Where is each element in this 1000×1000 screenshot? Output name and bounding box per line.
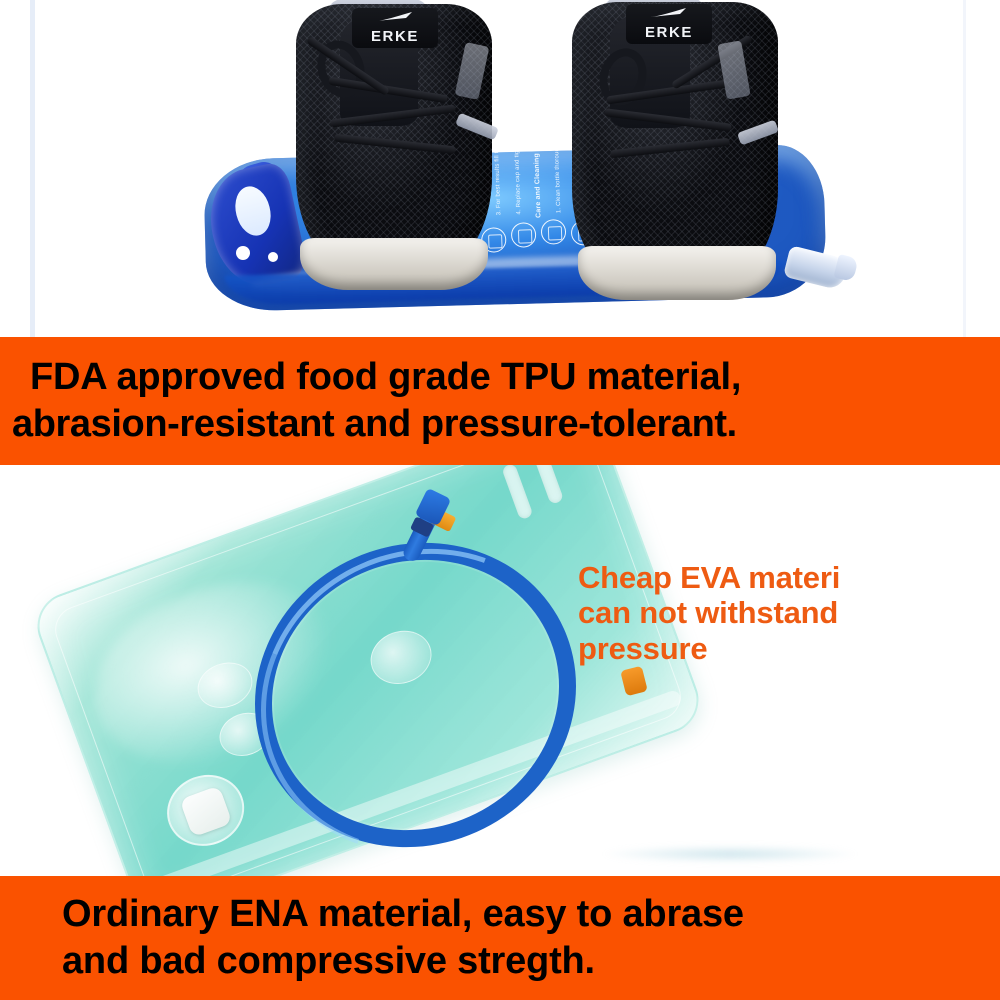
tpu-handle-hole [236, 246, 250, 260]
eva-drop-shadow [600, 845, 860, 863]
shoe-brand-label: ERKE [645, 24, 693, 44]
eva-claim-banner: Ordinary ENA material, easy to abrase an… [0, 876, 1000, 1000]
bladder-nozzle-cap [833, 254, 858, 282]
tpu-claim-banner: FDA approved food grade TPU material, ab… [0, 337, 1000, 465]
bladder-label-line: 3. For best results fill to [494, 148, 502, 216]
eva-claim-line-1: Ordinary ENA material, easy to abrase [0, 894, 1000, 935]
eva-caption-line-1: Cheap EVA materi [578, 560, 998, 595]
shoe-brand-tab: ERKE [626, 4, 712, 44]
shoe-midsole [578, 246, 776, 300]
eva-overlay-caption: Cheap EVA materi can not withstand press… [578, 560, 998, 666]
bladder-label-line: 1. Clean bottle thoroughly [554, 140, 563, 214]
right-guide-line [963, 0, 966, 337]
eva-claim-line-2: and bad compressive stregth. [0, 941, 1000, 982]
care-instruction-icon [541, 219, 567, 245]
eva-caption-line-3: pressure [578, 631, 998, 666]
tpu-claim-line-2: abrasion-resistant and pressure-tolerant… [0, 404, 1000, 445]
care-instruction-icon [511, 222, 537, 248]
erke-logo-icon [650, 7, 688, 19]
shoe-brand-label: ERKE [371, 28, 419, 48]
product-comparison-page: 2. Open the lid 3. For best results fill… [0, 0, 1000, 1000]
bladder-label-heading: Care and Cleaning [533, 153, 542, 218]
bladder-label-line: 4. Replace cap and tighten [514, 138, 523, 215]
tpu-product-photo: 2. Open the lid 3. For best results fill… [0, 0, 1000, 337]
shoe-brand-tab: ERKE [352, 8, 438, 48]
erke-logo-icon [376, 11, 414, 23]
eva-caption-line-2: can not withstand [578, 595, 998, 630]
tpu-handle-hole [268, 252, 278, 262]
left-guide-line [30, 0, 35, 337]
shoe-midsole [300, 238, 488, 290]
tpu-claim-line-1: FDA approved food grade TPU material, [0, 357, 1000, 398]
